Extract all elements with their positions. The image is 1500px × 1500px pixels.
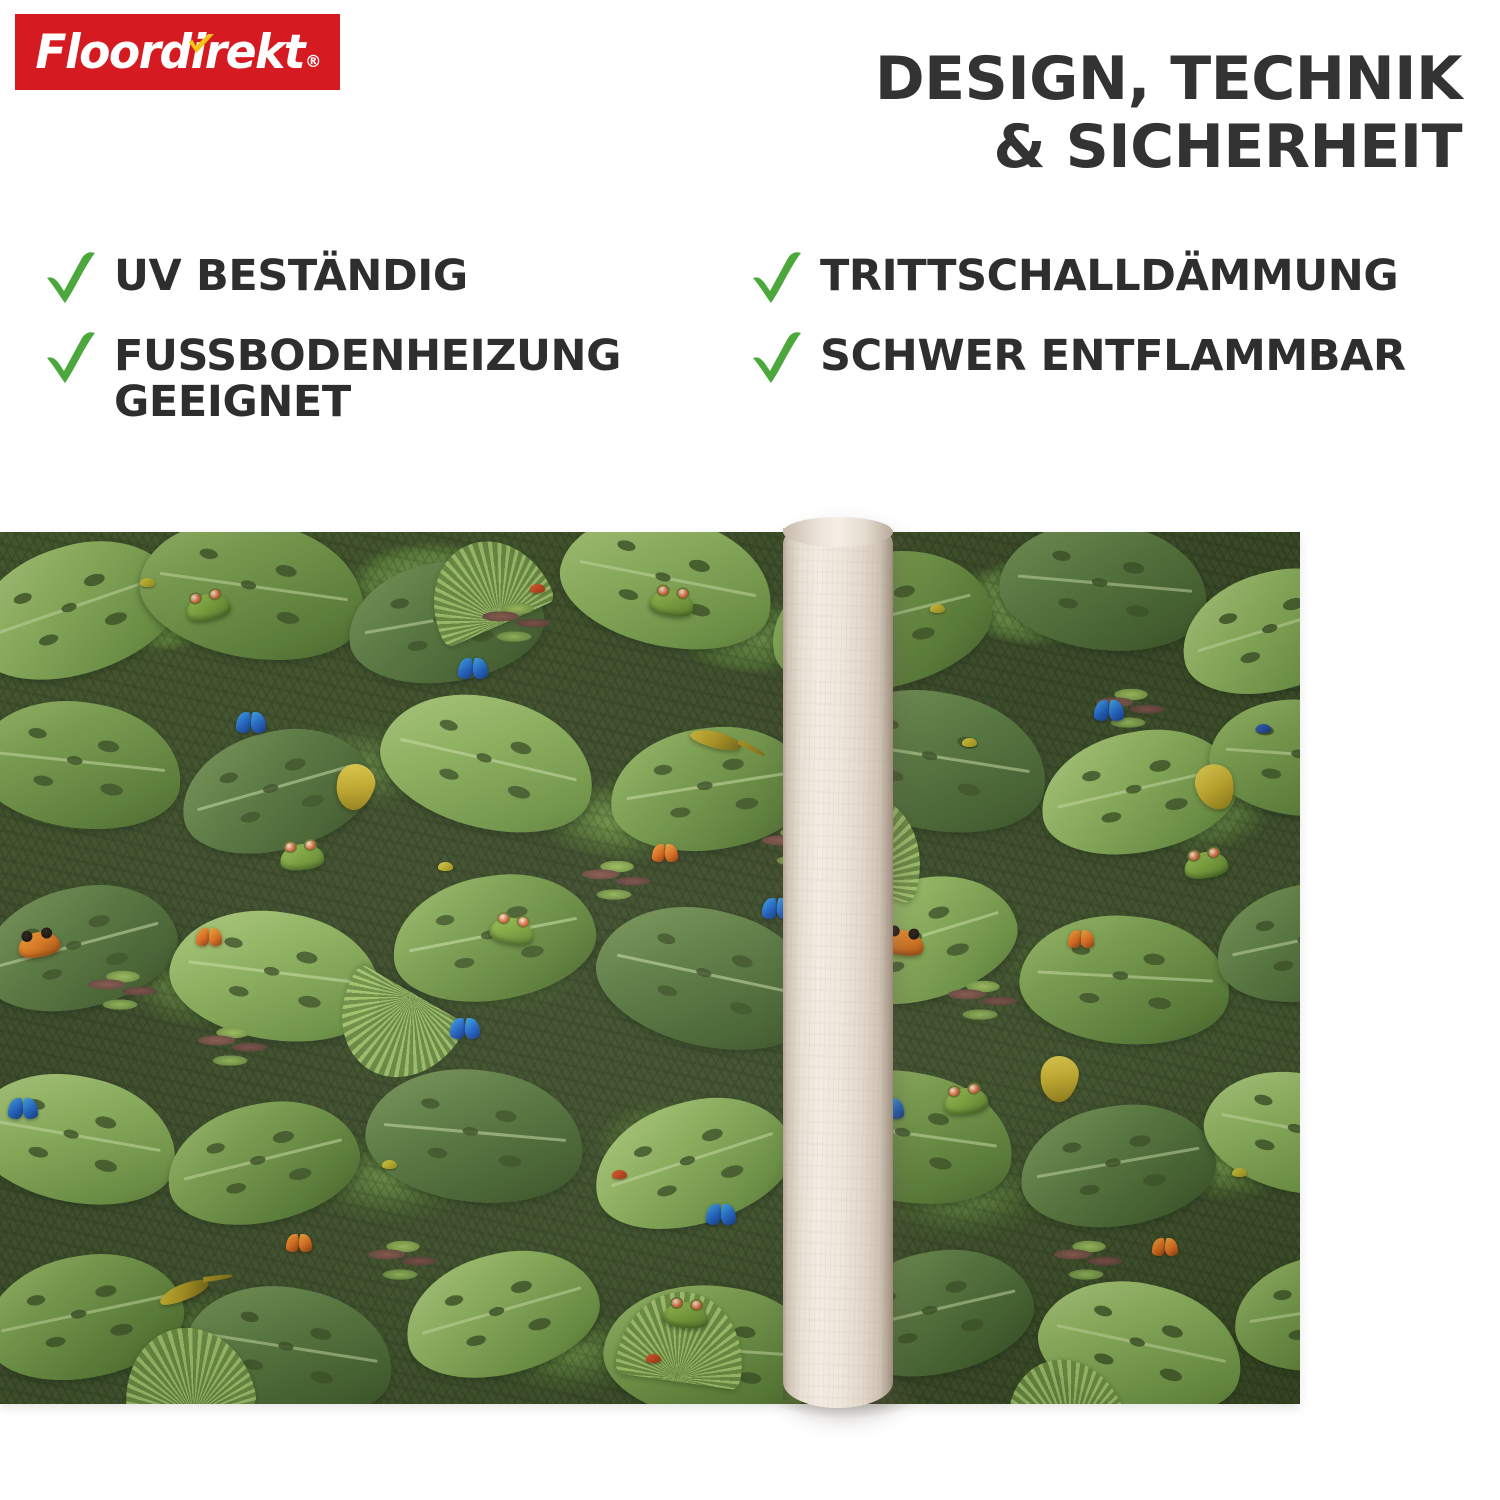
beetle bbox=[1232, 1168, 1247, 1177]
blue-morpho-butterfly bbox=[1094, 700, 1124, 722]
beetle bbox=[612, 1170, 627, 1179]
accent-plant bbox=[946, 972, 1020, 1028]
orange-butterfly bbox=[652, 844, 678, 863]
beetle bbox=[1256, 724, 1271, 733]
vinyl-roll bbox=[783, 518, 893, 1408]
feature-item-uv-bestaendig: UV BESTÄNDIG bbox=[42, 250, 742, 306]
orange-butterfly bbox=[1068, 930, 1094, 949]
accent-plant bbox=[480, 594, 554, 650]
page-title: DESIGN, TECHNIK & SICHERHEIT bbox=[562, 46, 1462, 182]
checkmark-icon bbox=[748, 328, 806, 386]
registered-mark-icon: ® bbox=[305, 52, 321, 72]
blue-morpho-butterfly bbox=[450, 1018, 480, 1040]
orange-butterfly bbox=[286, 1234, 312, 1253]
blue-morpho-butterfly bbox=[8, 1098, 38, 1120]
beetle bbox=[140, 578, 155, 587]
feature-column-right: TRITTSCHALLDÄMMUNG SCHWER ENTFLAMMBAR bbox=[748, 250, 1478, 410]
checkmark-icon bbox=[748, 248, 806, 306]
accent-plant bbox=[86, 962, 160, 1018]
accent-plant bbox=[1052, 1232, 1126, 1288]
roll-top-cap bbox=[783, 517, 893, 547]
blue-morpho-butterfly bbox=[458, 658, 488, 680]
blue-morpho-butterfly bbox=[236, 712, 266, 734]
vinyl-sheet bbox=[0, 532, 1300, 1404]
beetle bbox=[382, 1160, 397, 1169]
beetle bbox=[646, 1354, 661, 1363]
beetle bbox=[930, 604, 945, 613]
accent-plant bbox=[366, 1232, 440, 1288]
feature-list: UV BESTÄNDIG FUSSBODENHEIZUNG GEEIGNET T… bbox=[0, 250, 1500, 490]
brand-logo: Floordirekt® bbox=[15, 14, 340, 90]
headline-line-2: & SICHERHEIT bbox=[562, 114, 1462, 182]
feature-column-left: UV BESTÄNDIG FUSSBODENHEIZUNG GEEIGNET bbox=[42, 250, 742, 450]
feature-item-trittschalldaemmung: TRITTSCHALLDÄMMUNG bbox=[748, 250, 1478, 306]
feature-label: SCHWER ENTFLAMMBAR bbox=[820, 330, 1406, 379]
orange-butterfly bbox=[196, 928, 222, 947]
feature-item-schwer-entflammbar: SCHWER ENTFLAMMBAR bbox=[748, 330, 1478, 386]
product-image bbox=[0, 500, 1500, 1500]
feature-item-fussbodenheizung: FUSSBODENHEIZUNG GEEIGNET bbox=[42, 330, 742, 426]
feature-label: FUSSBODENHEIZUNG GEEIGNET bbox=[114, 330, 621, 426]
beetle bbox=[962, 738, 977, 747]
accent-plant bbox=[580, 852, 654, 908]
roll-backing-texture bbox=[783, 518, 893, 1408]
orange-butterfly bbox=[1152, 1238, 1178, 1257]
blue-morpho-butterfly bbox=[706, 1204, 736, 1226]
header-banner: Floordirekt® DESIGN, TECHNIK & SICHERHEI… bbox=[0, 0, 1500, 500]
brand-wordmark: Floordirekt® bbox=[35, 29, 320, 76]
checkmark-icon bbox=[42, 328, 100, 386]
checkmark-icon bbox=[42, 248, 100, 306]
headline-line-1: DESIGN, TECHNIK bbox=[875, 44, 1462, 114]
feature-label: UV BESTÄNDIG bbox=[114, 250, 468, 299]
accent-plant bbox=[196, 1018, 270, 1074]
brand-name: Floordirekt bbox=[35, 25, 304, 80]
beetle bbox=[530, 584, 545, 593]
beetle bbox=[438, 862, 453, 871]
feature-label: TRITTSCHALLDÄMMUNG bbox=[820, 250, 1398, 299]
